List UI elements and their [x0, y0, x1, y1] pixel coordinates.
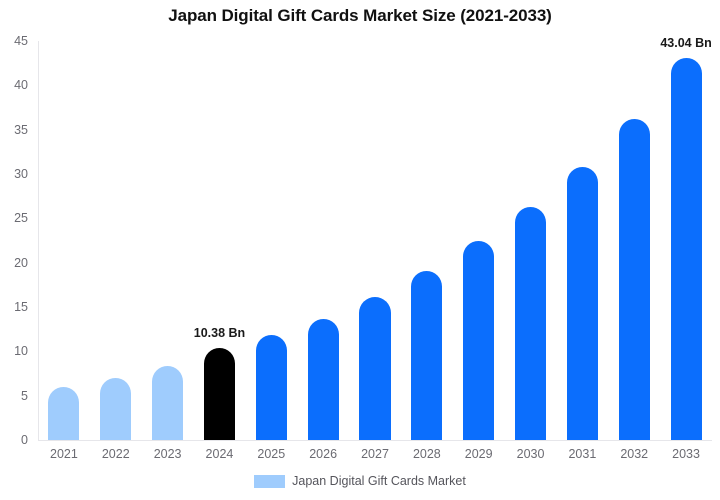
x-axis-line [38, 440, 712, 441]
y-axis-tick-label: 15 [0, 300, 28, 314]
x-axis-tick-label-2023: 2023 [154, 447, 182, 461]
bar-value-label-2024: 10.38 Bn [194, 326, 245, 340]
bar-group [308, 41, 339, 440]
y-axis-tick-label: 5 [0, 389, 28, 403]
bar-group [100, 41, 131, 440]
y-axis-tick-label: 0 [0, 433, 28, 447]
x-axis-tick-label-2025: 2025 [257, 447, 285, 461]
bar-group [515, 41, 546, 440]
bar-value-label-2033: 43.04 Bn [660, 36, 711, 50]
bar-series: 10.38 Bn43.04 Bn [38, 41, 712, 440]
legend-label: Japan Digital Gift Cards Market [292, 474, 466, 488]
chart-title: Japan Digital Gift Cards Market Size (20… [0, 6, 720, 26]
x-axis-tick-label-2031: 2031 [568, 447, 596, 461]
x-axis-tick-label-2032: 2032 [620, 447, 648, 461]
bar-2021[interactable] [48, 387, 79, 440]
bar-group [359, 41, 390, 440]
x-axis-tick-label-2029: 2029 [465, 447, 493, 461]
legend-swatch-icon [254, 475, 285, 488]
chart-legend: Japan Digital Gift Cards Market [0, 474, 720, 488]
x-axis-tick-label-2030: 2030 [517, 447, 545, 461]
x-axis-tick-label-2024: 2024 [206, 447, 234, 461]
y-axis-tick-label: 20 [0, 256, 28, 270]
bar-2026[interactable] [308, 319, 339, 440]
bar-group [152, 41, 183, 440]
bar-group [619, 41, 650, 440]
bar-group [463, 41, 494, 440]
y-axis-tick-label: 35 [0, 123, 28, 137]
bar-2022[interactable] [100, 378, 131, 440]
bar-group [567, 41, 598, 440]
bar-2029[interactable] [463, 241, 494, 440]
bar-group: 10.38 Bn [204, 41, 235, 440]
x-axis-tick-label-2033: 2033 [672, 447, 700, 461]
bar-2023[interactable] [152, 366, 183, 440]
x-axis-tick-label-2027: 2027 [361, 447, 389, 461]
plot-area: 10.38 Bn43.04 Bn [38, 41, 712, 440]
bar-group [48, 41, 79, 440]
x-axis-tick-label-2028: 2028 [413, 447, 441, 461]
y-axis-tick-label: 30 [0, 167, 28, 181]
y-axis-tick-label: 45 [0, 34, 28, 48]
y-axis-tick-label: 40 [0, 78, 28, 92]
bar-2032[interactable] [619, 119, 650, 440]
bar-2030[interactable] [515, 207, 546, 440]
bar-group [411, 41, 442, 440]
x-axis-tick-label-2026: 2026 [309, 447, 337, 461]
y-axis-tick-label: 25 [0, 211, 28, 225]
bar-2025[interactable] [256, 335, 287, 440]
bar-2031[interactable] [567, 167, 598, 440]
bar-2028[interactable] [411, 271, 442, 440]
x-axis-tick-label-2021: 2021 [50, 447, 78, 461]
x-axis-tick-label-2022: 2022 [102, 447, 130, 461]
bar-2033[interactable] [671, 58, 702, 440]
y-axis-tick-label: 10 [0, 344, 28, 358]
chart-container: Japan Digital Gift Cards Market Size (20… [0, 0, 720, 500]
bar-2027[interactable] [359, 297, 390, 440]
bar-2024[interactable] [204, 348, 235, 440]
bar-group [256, 41, 287, 440]
bar-group: 43.04 Bn [671, 41, 702, 440]
